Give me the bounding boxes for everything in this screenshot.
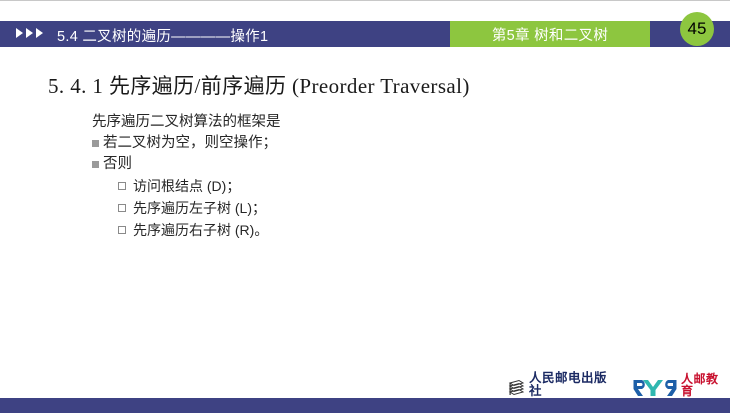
triple-right-arrow-icon xyxy=(16,28,43,38)
sub-list: 访问根结点 (D)； 先序遍历左子树 (L)； 先序遍历右子树 (R)。 xyxy=(118,175,652,241)
hollow-square-bullet-icon xyxy=(118,204,126,212)
lead-text: 先序遍历二叉树算法的框架是 xyxy=(92,112,652,133)
page-title: 5. 4. 1 先序遍历/前序遍历 (Preorder Traversal) xyxy=(48,70,470,100)
list-item-label: 先序遍历右子树 (R)。 xyxy=(133,219,268,241)
list-item-label: 先序遍历左子树 (L)； xyxy=(133,197,266,219)
right-arrow-icon xyxy=(36,28,43,38)
right-arrow-icon xyxy=(16,28,23,38)
header-chapter-title: 第5章 树和二叉树 xyxy=(450,21,650,47)
filled-square-bullet-icon xyxy=(92,140,99,147)
list-item: 访问根结点 (D)； xyxy=(118,175,652,197)
slide-header: 5.4 二叉树的遍历————操作1 第5章 树和二叉树 xyxy=(0,21,730,47)
hollow-square-bullet-icon xyxy=(118,182,126,190)
stacked-books-icon xyxy=(508,379,525,398)
list-item-label: 否则 xyxy=(103,154,132,175)
top-divider xyxy=(0,0,730,1)
list-item-label: 访问根结点 (D)； xyxy=(133,175,240,197)
ry-monogram-icon xyxy=(633,378,677,398)
list-item: 否则 xyxy=(92,154,652,175)
list-item: 若二叉树为空，则空操作； xyxy=(92,133,652,154)
page-number-badge: 45 xyxy=(680,12,714,46)
list-item-label: 若二叉树为空，则空操作； xyxy=(103,133,277,154)
ryjiaoyu-name-cn: 人邮教育 xyxy=(681,373,730,397)
footer-bar xyxy=(0,398,730,413)
ptpress-name-cn: 人民邮电出版社 xyxy=(529,372,619,397)
header-section-title: 5.4 二叉树的遍历————操作1 xyxy=(57,25,268,46)
filled-square-bullet-icon xyxy=(92,161,99,168)
list-item: 先序遍历左子树 (L)； xyxy=(118,197,652,219)
list-item: 先序遍历右子树 (R)。 xyxy=(118,219,652,241)
slide-body: 先序遍历二叉树算法的框架是 若二叉树为空，则空操作； 否则 访问根结点 (D)；… xyxy=(92,112,652,241)
right-arrow-icon xyxy=(26,28,33,38)
hollow-square-bullet-icon xyxy=(118,226,126,234)
